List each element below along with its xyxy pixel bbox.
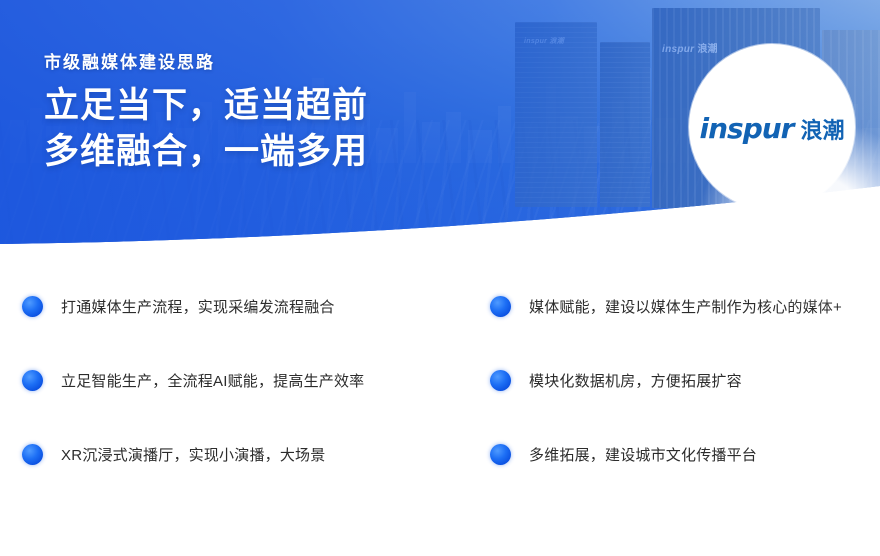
bullet-label: XR沉浸式演播厅，实现小演播，大场景 <box>61 434 325 468</box>
list-item: 模块化数据机房，方便拓展扩容 <box>490 360 880 434</box>
bullet-column-left: 打通媒体生产流程，实现采编发流程融合 立足智能生产，全流程AI赋能，提高生产效率… <box>22 286 442 508</box>
bullet-label: 模块化数据机房，方便拓展扩容 <box>529 360 742 394</box>
logo-lockup: inspur 浪潮 <box>700 112 845 145</box>
bullet-label: 立足智能生产，全流程AI赋能，提高生产效率 <box>61 360 364 394</box>
list-item: XR沉浸式演播厅，实现小演播，大场景 <box>22 434 442 508</box>
bullet-dot-icon <box>490 296 511 317</box>
bullet-dot-icon <box>22 296 43 317</box>
bullet-dot-icon <box>22 444 43 465</box>
hero-headline-line1: 立足当下，适当超前 <box>44 83 368 129</box>
list-item: 多维拓展，建设城市文化传播平台 <box>490 434 880 508</box>
list-item: 立足智能生产，全流程AI赋能，提高生产效率 <box>22 360 442 434</box>
bullet-label: 多维拓展，建设城市文化传播平台 <box>529 434 757 468</box>
bullet-column-right: 媒体赋能，建设以媒体生产制作为核心的媒体+ 模块化数据机房，方便拓展扩容 多维拓… <box>490 286 880 508</box>
bullet-dot-icon <box>490 370 511 391</box>
list-item: 打通媒体生产流程，实现采编发流程融合 <box>22 286 442 360</box>
logo-wordmark: inspur <box>700 112 794 145</box>
hero-headline-line2: 多维融合，一端多用 <box>44 129 368 175</box>
logo-chinese-name: 浪潮 <box>800 113 844 145</box>
bullet-label: 媒体赋能，建设以媒体生产制作为核心的媒体+ <box>529 286 842 320</box>
bullet-content: 打通媒体生产流程，实现采编发流程融合 立足智能生产，全流程AI赋能，提高生产效率… <box>0 286 880 556</box>
slide: inspur 浪潮 inspur 浪潮 市级融媒体建设思路 立足当下，适当超前 … <box>0 0 880 556</box>
bullet-label: 打通媒体生产流程，实现采编发流程融合 <box>61 286 335 320</box>
hero-eyebrow: 市级融媒体建设思路 <box>44 54 368 73</box>
bullet-dot-icon <box>490 444 511 465</box>
bullet-dot-icon <box>22 370 43 391</box>
list-item: 媒体赋能，建设以媒体生产制作为核心的媒体+ <box>490 286 880 360</box>
inspur-logo-badge: inspur 浪潮 <box>689 44 855 210</box>
hero-text-block: 市级融媒体建设思路 立足当下，适当超前 多维融合，一端多用 <box>44 54 368 175</box>
